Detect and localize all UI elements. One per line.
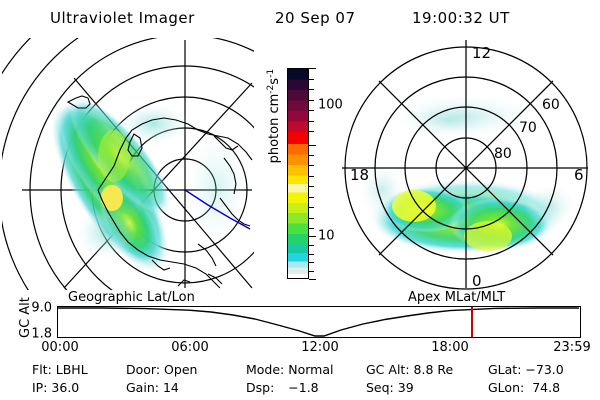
orbit-plot-box[interactable] [57, 306, 581, 338]
status-gain-value: 14 [163, 380, 179, 395]
colorbar-title-sup1: -2 [266, 85, 276, 94]
instrument-title: Ultraviolet Imager [50, 9, 195, 27]
status-seq-label: Seq: [366, 380, 394, 395]
orbit-xtick-2: 12:00 [301, 340, 338, 355]
status-gcalt: GC Alt: 8.8 Re [366, 362, 453, 377]
current-time-marker [471, 307, 473, 337]
orbit-xtick-1: 06:00 [171, 340, 208, 355]
mlat-label-80: 80 [494, 146, 512, 162]
altitude-curve-svg [58, 307, 580, 337]
status-mode-value: Normal [288, 362, 333, 377]
status-gcalt-label: GC Alt: [366, 362, 410, 377]
header-bar: Ultraviolet Imager 20 Sep 07 19:00:32 UT [0, 5, 600, 31]
colorbar-title-sup2: -1 [266, 69, 276, 78]
mlt-label-6: 6 [574, 166, 584, 184]
status-glon-value: 74.8 [532, 380, 560, 395]
geographic-plot-svg [2, 38, 254, 290]
status-dsp-value: −1.8 [288, 380, 318, 395]
colorbar-scale[interactable] [287, 68, 309, 279]
status-ip-value: 36.0 [51, 380, 79, 395]
status-gain-label: Gain: [126, 380, 159, 395]
status-gain: Gain: 14 [126, 380, 179, 395]
status-glon: GLon: 74.8 [488, 380, 560, 395]
colorbar-ticks [309, 68, 316, 279]
aurora-emission-mlt [360, 94, 576, 252]
orbit-ytick-top: 9.0 [22, 301, 52, 316]
status-glat-value: −73.0 [525, 362, 563, 377]
colorbar-title-main: photon cm [267, 94, 282, 164]
status-ip-label: IP: [32, 380, 47, 395]
status-mode: Mode: Normal [246, 362, 334, 377]
mlat-label-60: 60 [542, 97, 560, 113]
status-flt-label: Flt: [32, 362, 52, 377]
colorbar-label-10: 10 [318, 229, 335, 244]
status-door: Door: Open [126, 362, 197, 377]
colorbar-axis-title: photon cm-2s-1 [266, 36, 282, 196]
colorbar-gradient [288, 69, 308, 278]
status-door-value: Open [164, 362, 197, 377]
geographic-polar-plot[interactable] [2, 38, 254, 290]
orbit-altitude-panel[interactable]: GC Alt 9.0 1.8 Geographic Lat/Lon Apex M… [0, 292, 600, 354]
uvi-display: Ultraviolet Imager 20 Sep 07 19:00:32 UT [0, 0, 600, 400]
status-glon-label: GLon: [488, 380, 524, 395]
status-seq: Seq: 39 [366, 380, 414, 395]
orbit-xtick-4: 23:59 [553, 340, 590, 355]
orbit-xtick-0: 00:00 [41, 340, 78, 355]
status-gcalt-value: 8.8 Re [414, 362, 454, 377]
mlt-plot-svg: 12 18 6 0 60 70 80 [336, 38, 598, 290]
apex-mlat-mlt-plot[interactable]: 12 18 6 0 60 70 80 [336, 38, 598, 290]
status-flt: Flt: LBHL [32, 362, 88, 377]
mlt-label-18: 18 [350, 166, 369, 184]
mlt-label-12: 12 [472, 44, 491, 62]
status-dsp: Dsp: −1.8 [246, 380, 319, 395]
status-glat: GLat: −73.0 [488, 362, 564, 377]
status-glat-label: GLat: [488, 362, 521, 377]
status-footer: Flt: LBHL Door: Open Mode: Normal GC Alt… [0, 360, 600, 400]
altitude-curve [58, 308, 579, 336]
observation-date: 20 Sep 07 [275, 9, 355, 27]
orbit-xtick-3: 18:00 [431, 340, 468, 355]
mlt-label-0: 0 [472, 272, 482, 290]
status-ip: IP: 36.0 [32, 380, 79, 395]
status-seq-value: 39 [398, 380, 414, 395]
geo-panel-caption: Geographic Lat/Lon [68, 290, 195, 305]
colorbar-group[interactable]: photon cm-2s-1 [256, 60, 334, 290]
status-mode-label: Mode: [246, 362, 284, 377]
mlt-panel-caption: Apex MLat/MLT [408, 290, 505, 305]
status-flt-value: LBHL [56, 362, 88, 377]
status-door-label: Door: [126, 362, 160, 377]
mlat-label-70: 70 [519, 120, 537, 136]
colorbar-title-mid: s [267, 78, 282, 85]
observation-time: 19:00:32 UT [412, 9, 510, 27]
aurora-emission-geographic [31, 85, 247, 285]
status-dsp-label: Dsp: [246, 380, 274, 395]
